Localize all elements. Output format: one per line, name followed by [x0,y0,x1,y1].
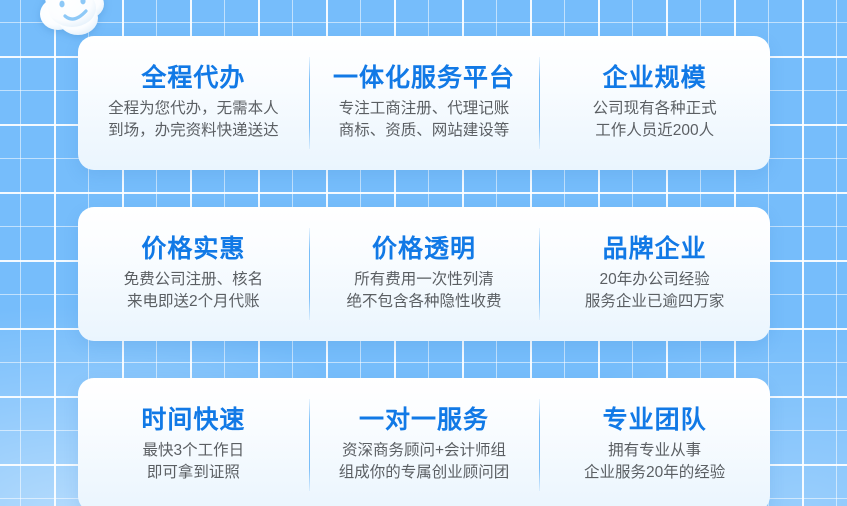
feature-cell-9[interactable]: 专业团队 拥有专业从事 企业服务20年的经验 [539,378,770,506]
feature-description-line: 资深商务顾问+会计师组 [339,440,510,462]
feature-description: 专注工商注册、代理记账 商标、资质、网站建设等 [339,98,510,142]
feature-description-line: 商标、资质、网站建设等 [339,120,510,142]
feature-card-row-1: 全程代办 全程为您代办，无需本人 到场，办完资料快递送达 一体化服务平台 专注工… [78,36,770,170]
feature-description-line: 服务企业已逾四万家 [585,291,725,313]
feature-title: 价格实惠 [141,235,245,263]
feature-description-line: 所有费用一次性列清 [347,269,502,291]
feature-title: 价格透明 [372,235,476,263]
feature-description: 所有费用一次性列清 绝不包含各种隐性收费 [347,269,502,313]
feature-description-line: 组成你的专属创业顾问团 [339,462,510,484]
feature-description-line: 全程为您代办，无需本人 [108,98,279,120]
feature-description-line: 专注工商注册、代理记账 [339,98,510,120]
feature-description-line: 企业服务20年的经验 [584,462,725,484]
feature-description: 公司现有各种正式 工作人员近200人 [593,98,717,142]
feature-description-line: 到场，办完资料快递送达 [108,120,279,142]
feature-cell-2[interactable]: 一体化服务平台 专注工商注册、代理记账 商标、资质、网站建设等 [309,36,540,170]
feature-description: 最快3个工作日 即可拿到证照 [143,440,245,484]
feature-cell-5[interactable]: 价格透明 所有费用一次性列清 绝不包含各种隐性收费 [309,207,540,341]
feature-card-row-3: 时间快速 最快3个工作日 即可拿到证照 一对一服务 资深商务顾问+会计师组 组成… [78,378,770,506]
feature-description-line: 最快3个工作日 [143,440,245,462]
feature-description-line: 拥有专业从事 [584,440,725,462]
mascot-left-eye-icon [59,1,64,8]
feature-cell-1[interactable]: 全程代办 全程为您代办，无需本人 到场，办完资料快递送达 [78,36,309,170]
feature-cell-4[interactable]: 价格实惠 免费公司注册、核名 来电即送2个月代账 [78,207,309,341]
feature-description: 全程为您代办，无需本人 到场，办完资料快递送达 [108,98,279,142]
feature-title: 品牌企业 [603,235,707,263]
feature-description-line: 20年办公司经验 [585,269,725,291]
feature-title: 时间快速 [141,406,245,434]
feature-cell-7[interactable]: 时间快速 最快3个工作日 即可拿到证照 [78,378,309,506]
feature-description: 20年办公司经验 服务企业已逾四万家 [585,269,725,313]
feature-description-line: 来电即送2个月代账 [124,291,264,313]
feature-description-line: 公司现有各种正式 [593,98,717,120]
feature-card-row-2: 价格实惠 免费公司注册、核名 来电即送2个月代账 价格透明 所有费用一次性列清 … [78,207,770,341]
feature-title: 专业团队 [603,406,707,434]
feature-description: 免费公司注册、核名 来电即送2个月代账 [124,269,264,313]
feature-cell-3[interactable]: 企业规模 公司现有各种正式 工作人员近200人 [539,36,770,170]
feature-title: 企业规模 [603,64,707,92]
feature-description-line: 免费公司注册、核名 [124,269,264,291]
feature-description: 资深商务顾问+会计师组 组成你的专属创业顾问团 [339,440,510,484]
feature-title: 全程代办 [141,64,245,92]
feature-cell-6[interactable]: 品牌企业 20年办公司经验 服务企业已逾四万家 [539,207,770,341]
feature-title: 一对一服务 [359,406,489,434]
feature-title: 一体化服务平台 [333,64,515,92]
feature-description-line: 工作人员近200人 [593,120,717,142]
promo-banner: 全程代办 全程为您代办，无需本人 到场，办完资料快递送达 一体化服务平台 专注工… [0,0,847,506]
feature-cell-8[interactable]: 一对一服务 资深商务顾问+会计师组 组成你的专属创业顾问团 [309,378,540,506]
feature-description-line: 绝不包含各种隐性收费 [347,291,502,313]
feature-description-line: 即可拿到证照 [143,462,245,484]
feature-description: 拥有专业从事 企业服务20年的经验 [584,440,725,484]
